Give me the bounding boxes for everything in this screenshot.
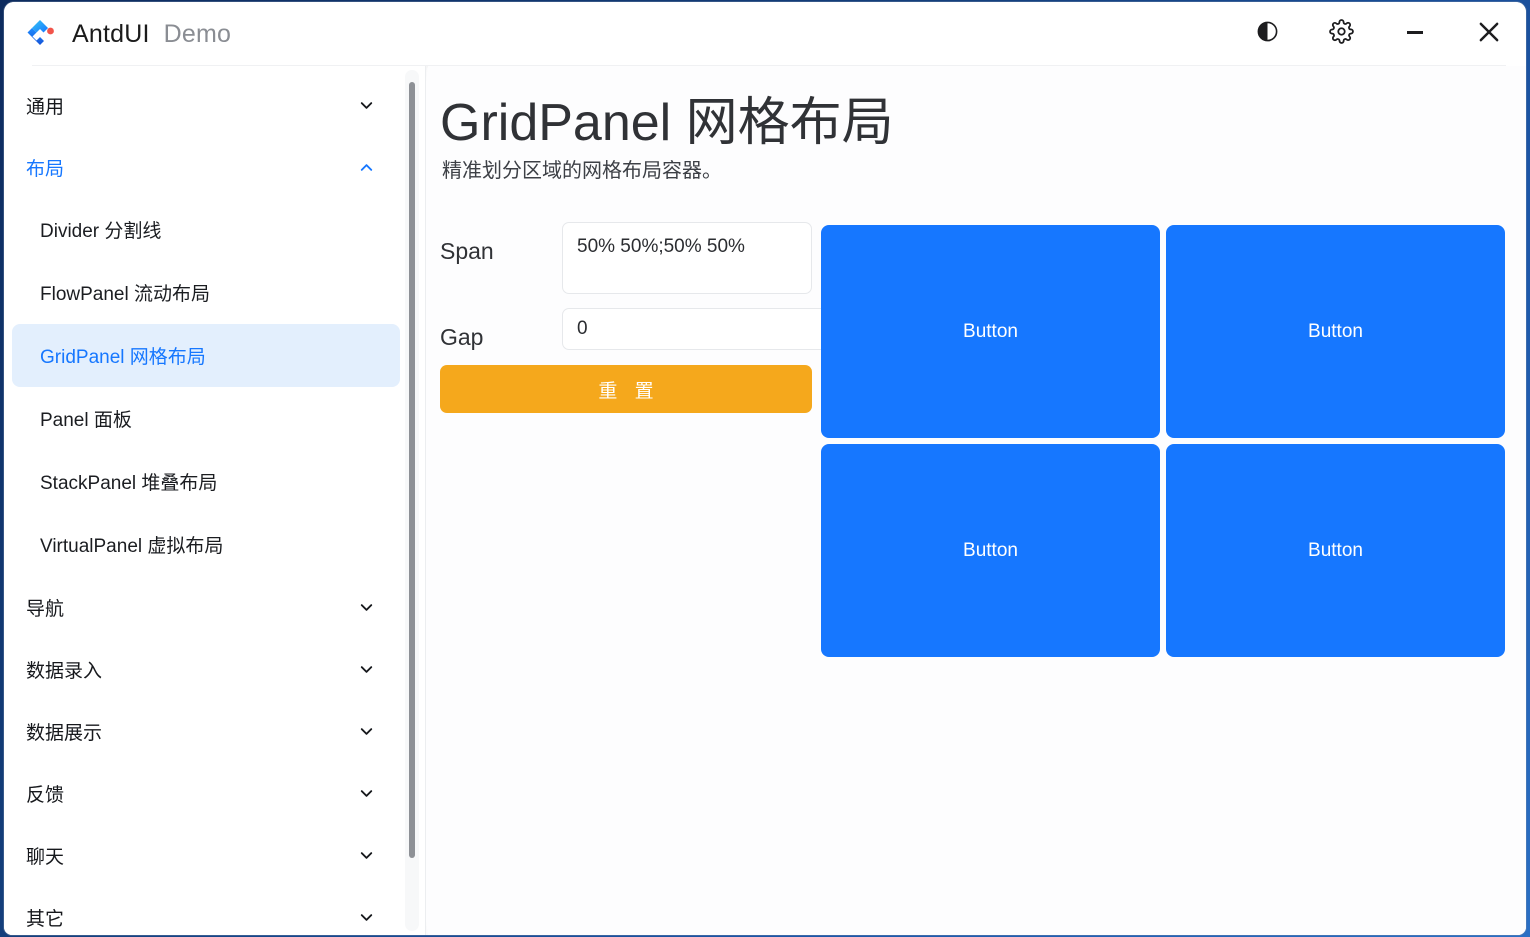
chevron-down-icon	[357, 784, 376, 803]
sidebar-group-navigation[interactable]: 导航	[4, 576, 408, 638]
sidebar-group-data-display[interactable]: 数据展示	[4, 700, 408, 762]
sidebar-group-label: 聊天	[26, 842, 64, 869]
chevron-down-icon	[357, 908, 376, 927]
sidebar-item-divider[interactable]: Divider 分割线	[12, 198, 400, 261]
sidebar-scrollbar-thumb[interactable]	[409, 82, 415, 858]
grid-button-3[interactable]: Button	[821, 444, 1160, 657]
app-name: AntdUI	[72, 20, 150, 49]
theme-toggle-button[interactable]	[1230, 2, 1304, 66]
chevron-down-icon	[357, 96, 376, 115]
antdui-logo-icon	[24, 17, 58, 51]
sidebar-item-label: StackPanel 堆叠布局	[40, 468, 217, 495]
page-subtitle: 精准划分区域的网格布局容器。	[442, 154, 722, 183]
span-label: Span	[440, 222, 562, 265]
sidebar-item-panel[interactable]: Panel 面板	[12, 387, 400, 450]
gear-icon	[1329, 19, 1354, 49]
chevron-down-icon	[357, 846, 376, 865]
grid-cell: Button	[818, 222, 1163, 441]
sidebar: 通用 布局 D	[4, 66, 425, 935]
title-bar: AntdUI Demo	[4, 2, 1526, 66]
grid-cell: Button	[1163, 222, 1508, 441]
gap-row: Gap	[440, 308, 812, 351]
grid-button-2[interactable]: Button	[1166, 225, 1505, 438]
sidebar-item-label: GridPanel 网格布局	[40, 342, 206, 369]
sidebar-item-label: FlowPanel 流动布局	[40, 279, 210, 306]
sidebar-group-layout[interactable]: 布局	[4, 136, 408, 198]
sidebar-item-flowpanel[interactable]: FlowPanel 流动布局	[12, 261, 400, 324]
grid-cell: Button	[818, 441, 1163, 660]
app-subtitle: Demo	[164, 20, 232, 49]
chevron-down-icon	[357, 660, 376, 679]
grid-panel-preview: Button Button Button Button	[818, 222, 1508, 660]
sidebar-item-virtualpanel[interactable]: VirtualPanel 虚拟布局	[12, 513, 400, 576]
sidebar-item-stackpanel[interactable]: StackPanel 堆叠布局	[12, 450, 400, 513]
app-brand: AntdUI Demo	[24, 17, 231, 51]
span-row: Span	[440, 222, 812, 294]
sidebar-group-general[interactable]: 通用	[4, 74, 408, 136]
sidebar-group-data-entry[interactable]: 数据录入	[4, 638, 408, 700]
sidebar-item-label: Divider 分割线	[40, 216, 161, 243]
gap-input[interactable]	[562, 308, 837, 350]
page-title: GridPanel 网格布局	[440, 80, 894, 155]
sidebar-group-label: 导航	[26, 594, 64, 621]
sidebar-group-label: 布局	[26, 154, 64, 181]
sidebar-menu: 通用 布局 D	[4, 66, 408, 935]
sidebar-group-label: 通用	[26, 92, 64, 119]
sidebar-item-label: Panel 面板	[40, 405, 132, 432]
minimize-icon	[1402, 19, 1428, 50]
sidebar-group-feedback[interactable]: 反馈	[4, 762, 408, 824]
chevron-up-icon	[357, 158, 376, 177]
window-body: 通用 布局 D	[4, 66, 1526, 935]
sidebar-scrollbar-track[interactable]	[405, 70, 419, 931]
sidebar-group-other[interactable]: 其它	[4, 886, 408, 935]
sidebar-group-chat[interactable]: 聊天	[4, 824, 408, 886]
grid-button-1[interactable]: Button	[821, 225, 1160, 438]
close-button[interactable]	[1452, 2, 1526, 66]
sidebar-group-label: 其它	[26, 904, 64, 931]
settings-button[interactable]	[1304, 2, 1378, 66]
sidebar-item-gridpanel[interactable]: GridPanel 网格布局	[12, 324, 400, 387]
grid-cell: Button	[1163, 441, 1508, 660]
reset-button[interactable]: 重 置	[440, 365, 812, 413]
span-input[interactable]	[562, 222, 812, 294]
sidebar-group-label: 数据展示	[26, 718, 102, 745]
window-controls	[1230, 2, 1526, 66]
settings-form: Span Gap 重 置	[440, 222, 812, 413]
chevron-down-icon	[357, 598, 376, 617]
chevron-down-icon	[357, 722, 376, 741]
sidebar-group-label: 数据录入	[26, 656, 102, 683]
main-content: GridPanel 网格布局 精准划分区域的网格布局容器。 Span Gap 重…	[426, 66, 1526, 935]
app-window: AntdUI Demo	[4, 2, 1526, 935]
grid-button-4[interactable]: Button	[1166, 444, 1505, 657]
gap-label: Gap	[440, 308, 562, 351]
sidebar-group-label: 反馈	[26, 780, 64, 807]
sidebar-item-label: VirtualPanel 虚拟布局	[40, 531, 223, 558]
minimize-button[interactable]	[1378, 2, 1452, 66]
half-circle-icon	[1256, 20, 1279, 48]
close-icon	[1475, 18, 1503, 51]
